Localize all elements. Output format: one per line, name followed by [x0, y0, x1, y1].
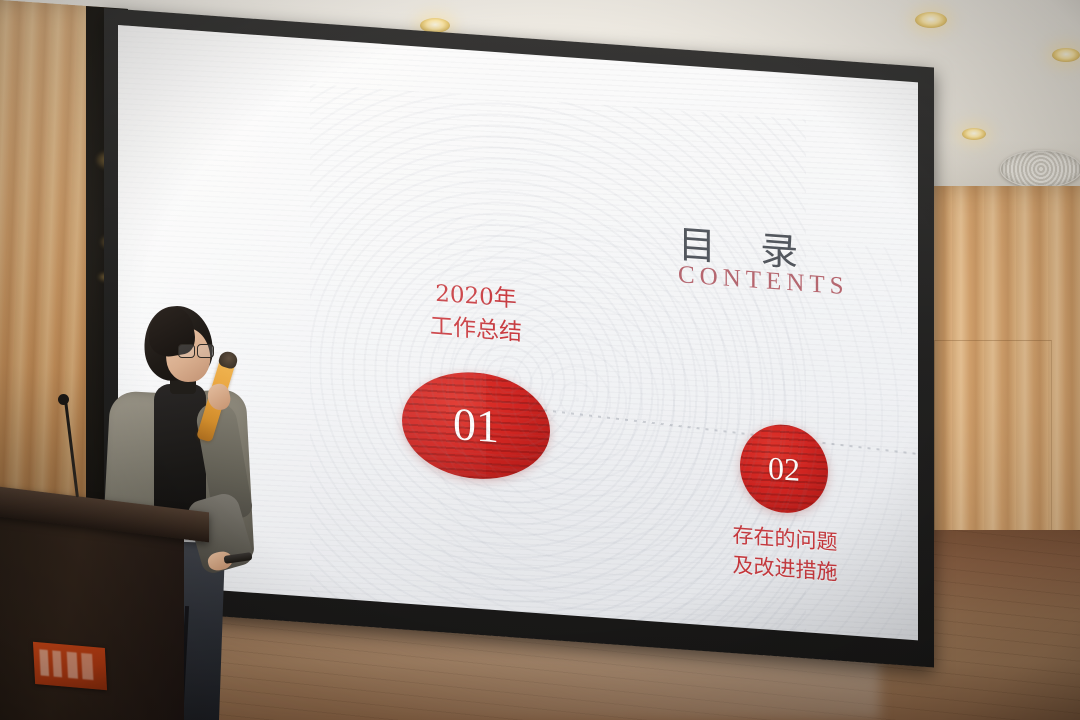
- ceiling-downlight: [915, 12, 947, 28]
- agenda-label-03: 2021年 工作计划: [914, 404, 918, 454]
- agenda-label-02: 存在的问题 及改进措施: [690, 518, 880, 591]
- microphone-grille: [217, 350, 239, 371]
- ceiling-downlight: [1052, 48, 1080, 62]
- glasses: [178, 344, 212, 357]
- slide-title-english: CONTENTS: [678, 261, 849, 301]
- ceiling-downlight: [962, 128, 986, 140]
- agenda-label-01: 2020年 工作总结: [390, 275, 562, 353]
- agenda-bubble-02: 02: [740, 422, 828, 516]
- agenda-number-01: 01: [453, 401, 499, 450]
- podium-logo-mark: [39, 649, 100, 680]
- agenda-label-03-line2: 工作计划: [914, 425, 918, 454]
- agenda-number-02: 02: [768, 452, 800, 486]
- photo-scene: 目 录 CONTENTS 2020年 工作总结 01 02: [0, 0, 1080, 720]
- air-diffuser-vent: [1000, 150, 1080, 188]
- gooseneck-mic-head: [58, 394, 69, 405]
- agenda-bubble-01: 01: [402, 367, 550, 484]
- podium-logo-plaque: [33, 642, 107, 691]
